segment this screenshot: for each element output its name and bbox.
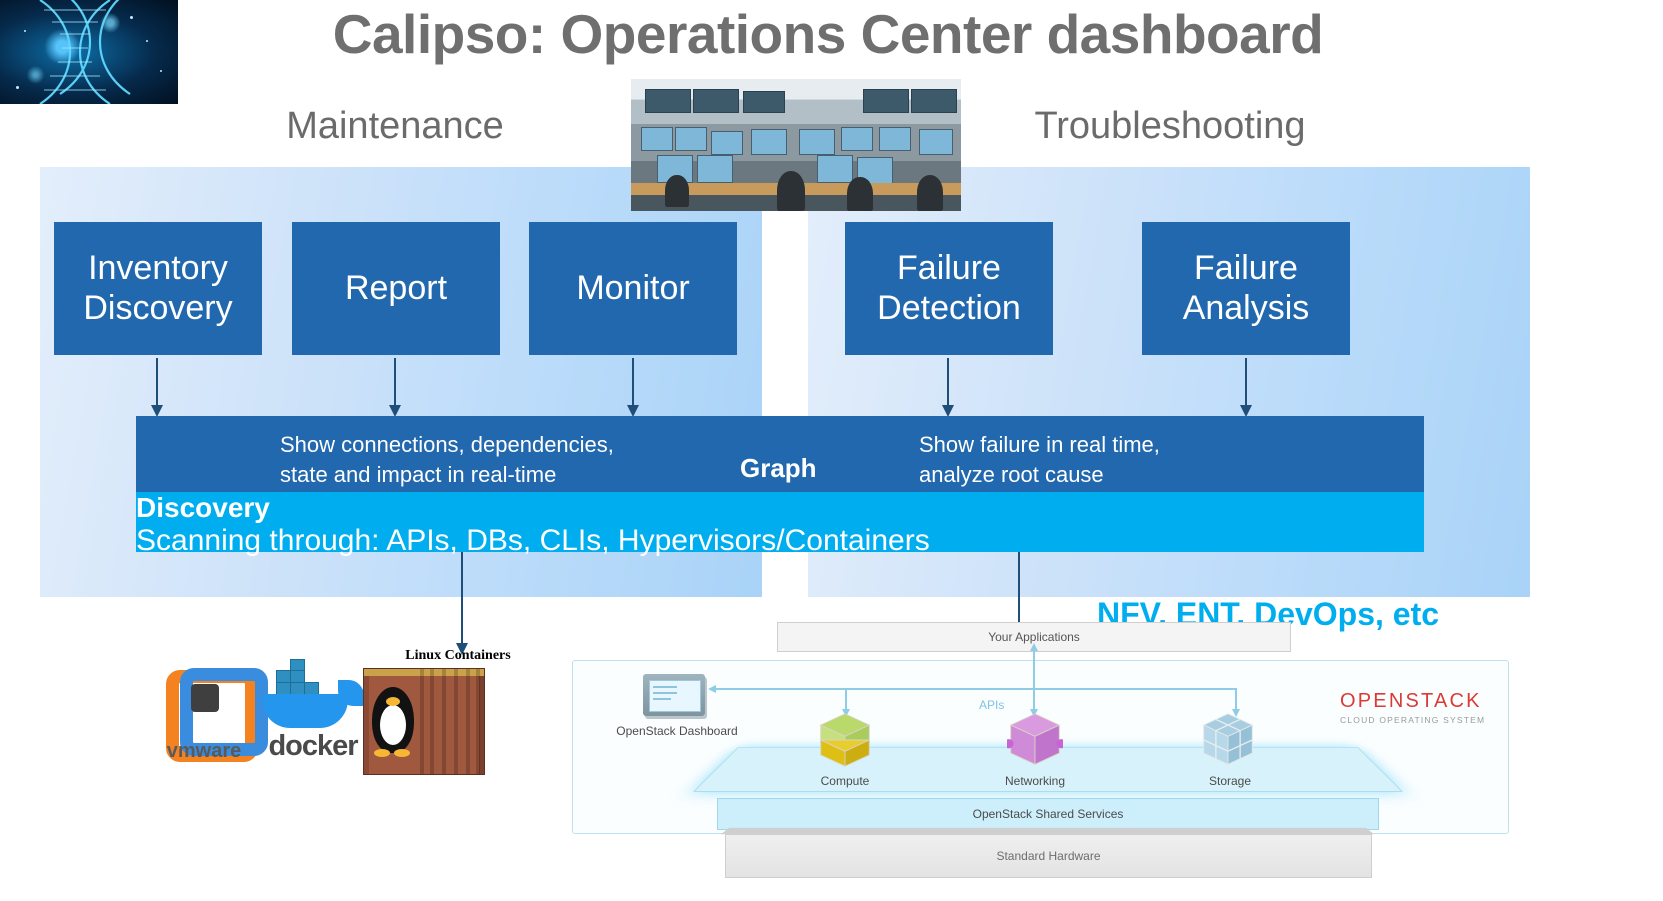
arrow-monitor-to-graph <box>632 358 634 406</box>
dna-helix-icon <box>0 0 178 104</box>
arrow-failure-analysis-to-graph <box>1245 358 1247 406</box>
feature-box-line1: Inventory <box>83 249 232 288</box>
feature-box-failure-analysis[interactable]: Failure Analysis <box>1142 222 1350 355</box>
connector-to-dashboard <box>715 688 847 690</box>
graph-left-line2: state and impact in real-time <box>280 460 614 490</box>
feature-box-line1: Failure <box>1183 249 1310 288</box>
docker-wordmark: docker <box>254 730 372 763</box>
graph-left-line1: Show connections, dependencies, <box>280 430 614 460</box>
vmware-inner-square-icon <box>191 684 219 712</box>
feature-box-line1: Failure <box>877 249 1021 288</box>
feature-box-line2: Detection <box>877 289 1021 328</box>
compute-label: Compute <box>765 774 925 788</box>
section-label-maintenance: Maintenance <box>180 105 610 148</box>
spark-dot <box>130 16 133 19</box>
connector-to-compute <box>845 688 847 710</box>
graph-right-line1: Show failure in real time, <box>919 430 1160 460</box>
feature-box-failure-detection[interactable]: Failure Detection <box>845 222 1053 355</box>
feature-box-line1: Monitor <box>576 269 689 308</box>
openstack-architecture-diagram: Your Applications OpenStack Dashboard AP… <box>565 612 1515 901</box>
openstack-dashboard-label: OpenStack Dashboard <box>587 724 767 738</box>
dna-logo-image <box>0 0 178 104</box>
connector-to-storage <box>1235 688 1237 710</box>
feature-box-line1: Report <box>345 269 447 308</box>
storage-label: Storage <box>1150 774 1310 788</box>
graph-right-line2: analyze root cause <box>919 460 1160 490</box>
page-title: Calipso: Operations Center dashboard <box>178 6 1478 64</box>
connector-to-networking <box>1033 688 1035 710</box>
connector-horizontal-bus <box>845 688 1237 690</box>
standard-hardware-bar: Standard Hardware <box>725 834 1372 878</box>
spark-dot <box>16 86 19 89</box>
feature-box-inventory-discovery[interactable]: Inventory Discovery <box>54 222 262 355</box>
vmware-wordmark: vmware <box>158 740 250 763</box>
docker-whale-icon <box>262 694 348 728</box>
standard-hardware-label: Standard Hardware <box>996 849 1100 863</box>
discovery-label: Discovery <box>136 492 1424 524</box>
your-applications-label: Your Applications <box>988 630 1080 644</box>
openstack-dashboard-icon <box>643 674 705 716</box>
arrow-report-to-graph <box>394 358 396 406</box>
arrow-failure-detection-to-graph <box>947 358 949 406</box>
storage-cube-icon <box>1200 712 1256 768</box>
vmware-logo: vmware <box>158 668 250 770</box>
arrow-inventory-to-graph <box>156 358 158 406</box>
shared-services-label: OpenStack Shared Services <box>973 807 1124 821</box>
operations-center-photo <box>631 79 961 211</box>
feature-box-report[interactable]: Report <box>292 222 500 355</box>
feature-box-line2: Discovery <box>83 289 232 328</box>
spark-dot <box>160 70 162 72</box>
linux-container-image <box>363 668 485 775</box>
docker-logo: docker <box>258 668 368 770</box>
apis-label: APIs <box>979 698 1004 712</box>
openstack-logo: OPENSTACK CLOUD OPERATING SYSTEM <box>1340 690 1510 725</box>
graph-left-description: Show connections, dependencies, state an… <box>280 430 614 489</box>
scanning-text: Scanning through: APIs, DBs, CLIs, Hyper… <box>136 524 1424 558</box>
openstack-logo-name: OPENSTACK <box>1340 690 1510 713</box>
compute-cube-icon <box>817 712 873 768</box>
discovery-bar: Discovery Scanning through: APIs, DBs, C… <box>136 492 1424 552</box>
openstack-shared-services-bar: OpenStack Shared Services <box>717 798 1379 830</box>
spark-dot <box>24 30 26 32</box>
spark-dot <box>146 40 148 42</box>
openstack-logo-subtitle: CLOUD OPERATING SYSTEM <box>1340 715 1510 725</box>
graph-right-description: Show failure in real time, analyze root … <box>919 430 1160 489</box>
networking-label: Networking <box>955 774 1115 788</box>
networking-cube-icon <box>1007 712 1063 768</box>
arrow-discovery-to-containers <box>461 552 463 644</box>
feature-box-line2: Analysis <box>1183 289 1310 328</box>
linux-containers-label: Linux Containers <box>378 648 538 664</box>
graph-bar: Show connections, dependencies, state an… <box>136 416 1424 492</box>
feature-box-monitor[interactable]: Monitor <box>529 222 737 355</box>
graph-label: Graph <box>740 451 817 486</box>
section-label-troubleshooting: Troubleshooting <box>955 105 1385 148</box>
